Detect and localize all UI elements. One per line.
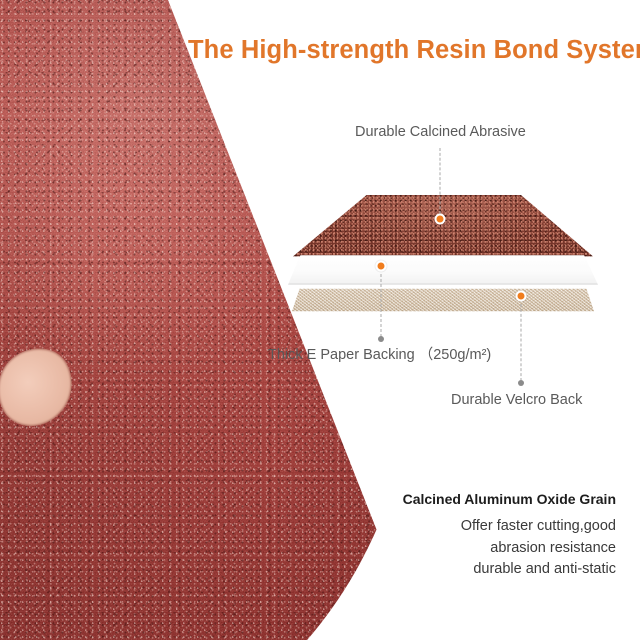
callout-label-abrasive: Durable Calcined Abrasive	[355, 122, 526, 142]
feature-line-2: abrasion resistance	[366, 538, 616, 560]
callout-marker-velcro	[516, 291, 527, 302]
feature-line-3: durable and anti-static	[366, 559, 616, 581]
callout-line-velcro	[521, 304, 522, 381]
callout-marker-abrasive	[435, 214, 446, 225]
sanding-disc-photo	[0, 0, 420, 640]
feature-heading: Calcined Aluminum Oxide Grain	[366, 489, 616, 509]
feature-copy-block: Calcined Aluminum Oxide Grain Offer fast…	[366, 489, 616, 581]
callout-label-velcro: Durable Velcro Back	[451, 390, 582, 410]
callout-endpoint-velcro	[518, 380, 524, 386]
infographic-canvas: The High-strength Resin Bond System Dura…	[0, 0, 640, 640]
page-title: The High-strength Resin Bond System	[188, 34, 628, 66]
callout-label-paper: Thick E Paper Backing （250g/m²)	[268, 345, 491, 365]
callout-line-abrasive	[440, 148, 441, 214]
feature-line-1: Offer faster cutting,good	[366, 516, 616, 538]
